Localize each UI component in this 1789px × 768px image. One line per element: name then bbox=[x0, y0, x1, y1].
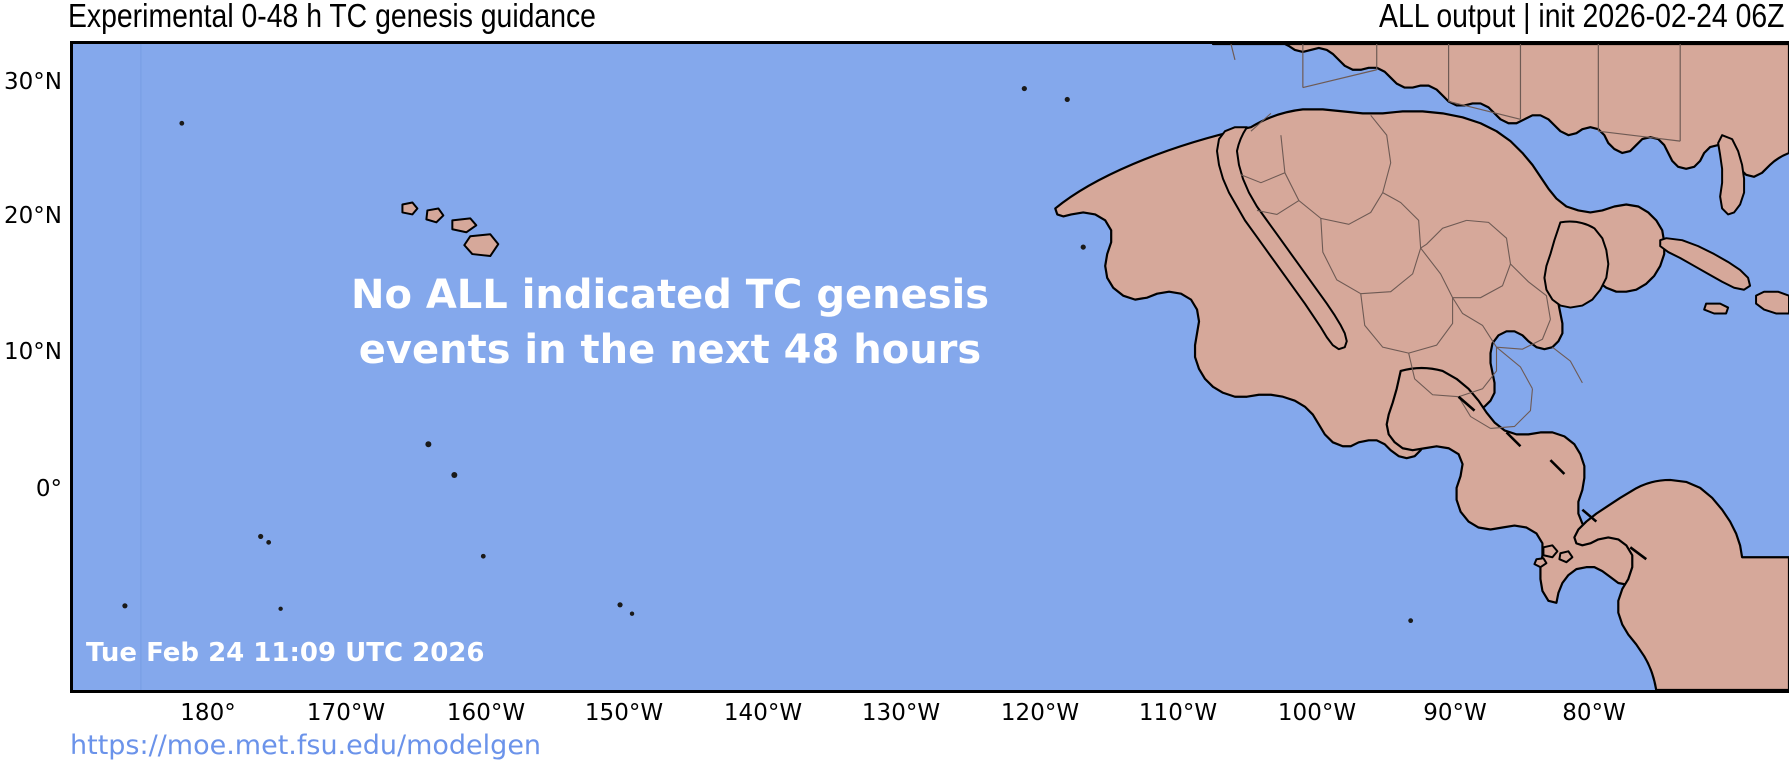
island-dot-9 bbox=[481, 554, 486, 559]
y-axis-tick-label: 30°N bbox=[4, 69, 62, 95]
source-url-link[interactable]: https://moe.met.fsu.edu/modelgen bbox=[70, 730, 541, 761]
y-axis-tick-label: 10°N bbox=[4, 339, 62, 365]
x-axis-tick-label: 150°W bbox=[585, 700, 663, 726]
header-bar: Experimental 0-48 h TC genesis guidance … bbox=[0, 0, 1789, 38]
x-axis-tick-label: 160°W bbox=[447, 700, 525, 726]
map-plot-area[interactable]: .land { fill:#d6a89a; stroke:#000000; st… bbox=[70, 41, 1789, 693]
valid-timestamp: Tue Feb 24 11:09 UTC 2026 bbox=[86, 638, 484, 668]
model-init-label: ALL output | init 2026-02-24 06Z bbox=[1379, 0, 1785, 35]
island-dot-14 bbox=[1408, 618, 1413, 623]
island-dot-1 bbox=[179, 121, 184, 126]
x-axis-tick-label: 170°W bbox=[307, 700, 385, 726]
x-axis-tick-label: 130°W bbox=[862, 700, 940, 726]
page-title: Experimental 0-48 h TC genesis guidance bbox=[68, 0, 596, 35]
island-dot-13 bbox=[630, 612, 634, 616]
island-dot-8 bbox=[266, 540, 271, 545]
landmass-kauai bbox=[402, 203, 417, 215]
island-dot-3 bbox=[1065, 97, 1070, 102]
island-dot-12 bbox=[617, 602, 622, 607]
island-dot-2 bbox=[1022, 86, 1027, 91]
landmass-jamaica bbox=[1704, 304, 1728, 314]
y-axis-tick-label: 0° bbox=[36, 476, 62, 502]
x-axis-tick-label: 140°W bbox=[724, 700, 802, 726]
x-axis-tick-label: 110°W bbox=[1139, 700, 1217, 726]
island-dot-10 bbox=[122, 603, 127, 608]
island-dot-5 bbox=[425, 441, 431, 447]
ocean bbox=[73, 44, 1789, 690]
x-axis-tick-label: 120°W bbox=[1001, 700, 1079, 726]
island-dot-7 bbox=[258, 534, 263, 539]
x-axis-tick-label: 180° bbox=[180, 700, 235, 726]
basemap-svg: .land { fill:#d6a89a; stroke:#000000; st… bbox=[73, 44, 1789, 690]
x-axis-tick-label: 100°W bbox=[1278, 700, 1356, 726]
y-axis-tick-label: 20°N bbox=[4, 203, 62, 229]
island-dot-11 bbox=[278, 607, 282, 611]
island-dot-4 bbox=[1081, 245, 1086, 250]
x-axis-tick-label: 80°W bbox=[1562, 700, 1626, 726]
island-dot-6 bbox=[451, 472, 457, 478]
x-axis-tick-label: 90°W bbox=[1423, 700, 1487, 726]
